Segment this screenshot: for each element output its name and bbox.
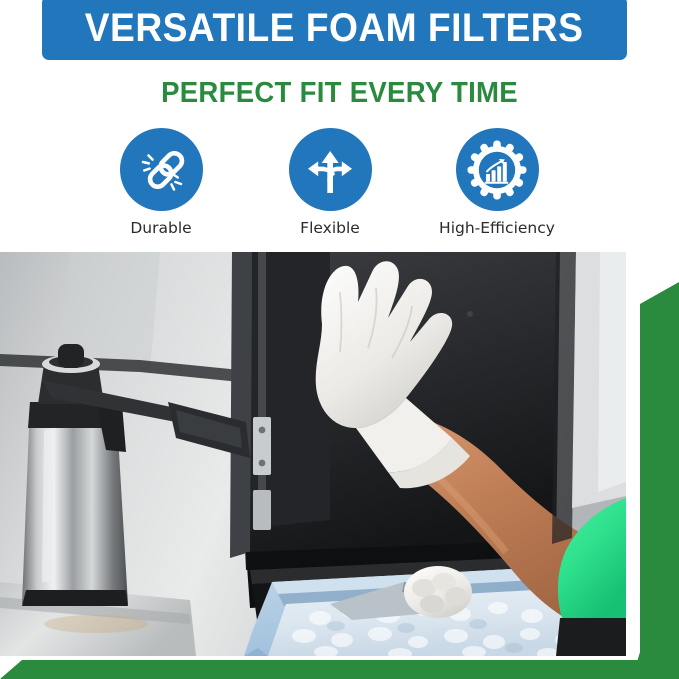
feature-icon-badge: [456, 128, 539, 211]
gloved-hand-lower: [404, 566, 472, 618]
three-way-arrow-icon: [301, 141, 359, 199]
page-title: VERSATILE FOAM FILTERS: [85, 8, 584, 48]
feature-label: Durable: [81, 220, 241, 237]
feature-icon-badge: [289, 128, 372, 211]
gear-bar-chart-icon: [466, 139, 528, 201]
feature-item-durable: Durable: [81, 128, 241, 237]
ice-machine-photo: [0, 252, 626, 656]
feature-item-flexible: Flexible: [250, 128, 410, 237]
feature-icon-badge: [120, 128, 203, 211]
feature-label: Flexible: [250, 220, 410, 237]
header-banner: VERSATILE FOAM FILTERS: [42, 0, 627, 60]
subtitle: PERFECT FIT EVERY TIME: [17, 79, 662, 108]
infographic-root: VERSATILE FOAM FILTERS PERFECT FIT EVERY…: [0, 0, 679, 679]
feature-label: High-Efficiency: [417, 220, 577, 237]
feature-item-high-efficiency: High-Efficiency: [417, 128, 577, 237]
photo-frame: [0, 252, 626, 656]
chain-link-icon: [131, 140, 191, 200]
feature-row: Durable Flexible: [0, 128, 679, 246]
product-photo-area: [0, 252, 679, 679]
